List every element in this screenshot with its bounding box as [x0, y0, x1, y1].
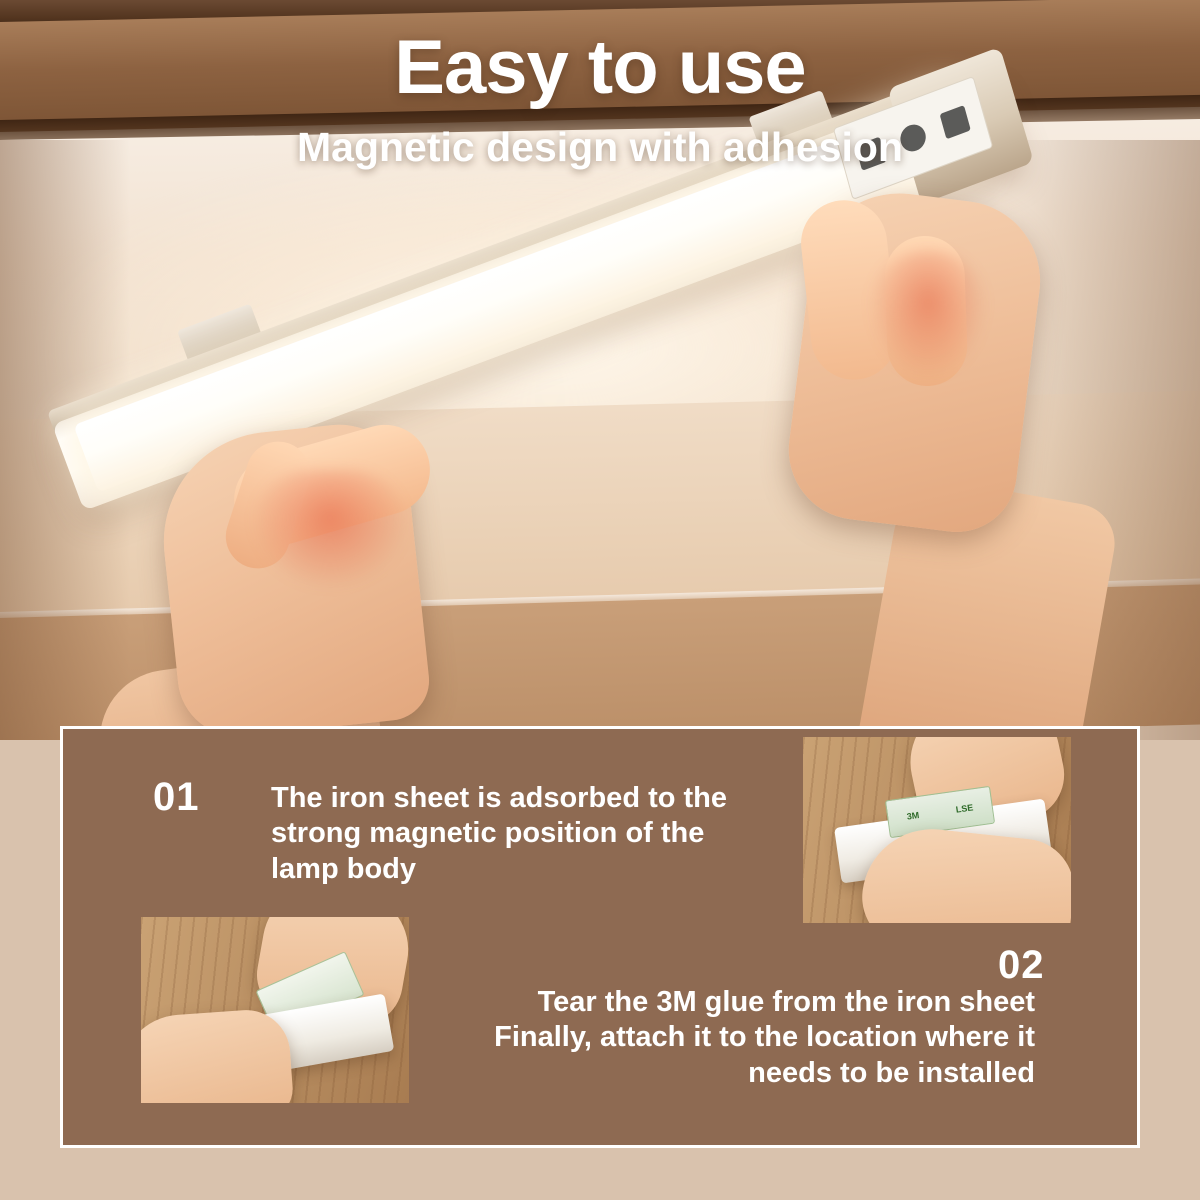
step-number-02: 02 [998, 943, 1045, 988]
step-text-01: The iron sheet is adsorbed to the strong… [271, 781, 771, 887]
step-1-thumbnail: 3M LSE [803, 737, 1071, 923]
hero-photo: Easy to use Magnetic design with adhesio… [0, 0, 1200, 740]
instruction-steps-panel: 01 The iron sheet is adsorbed to the str… [60, 726, 1140, 1148]
hand-right-light-glow [868, 250, 988, 380]
page-title: Easy to use [0, 28, 1200, 108]
thumb1-3m-label-left: 3M [906, 810, 920, 822]
step-2-thumbnail [141, 917, 409, 1103]
step-text-02: Tear the 3M glue from the iron sheet Fin… [435, 985, 1035, 1091]
thumb2-hand-holding [141, 1007, 295, 1103]
thumb1-3m-label-right: LSE [955, 802, 974, 814]
product-infographic-page: Easy to use Magnetic design with adhesio… [0, 0, 1200, 1200]
step-number-01: 01 [153, 775, 200, 820]
hand-left-light-glow [250, 470, 410, 590]
page-subtitle: Magnetic design with adhesion [0, 124, 1200, 171]
